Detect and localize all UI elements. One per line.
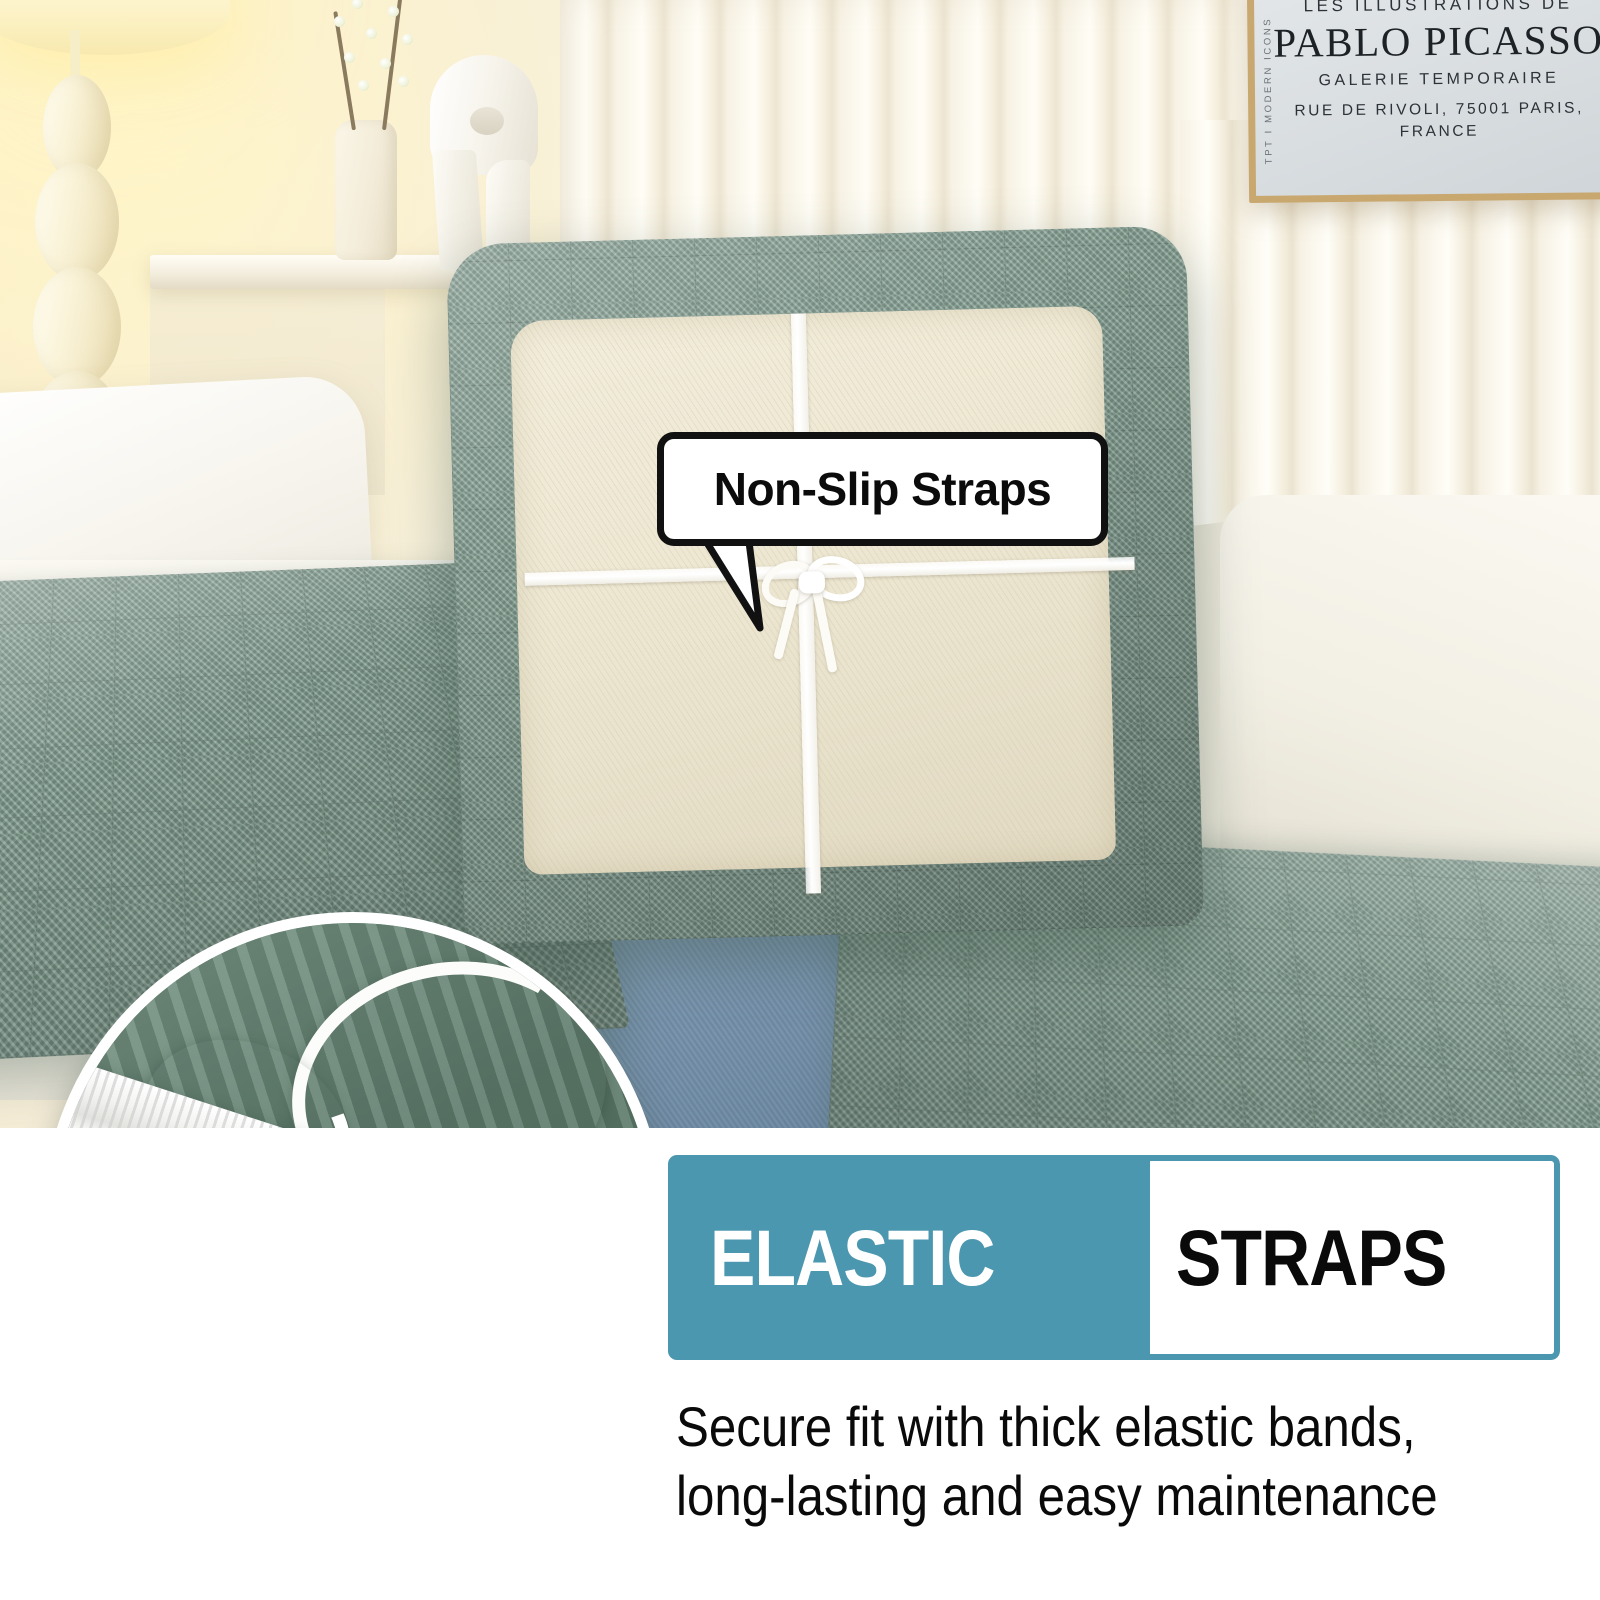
poster-address: RUE DE RIVOLI, 75001 PARIS, FRANCE <box>1255 97 1600 144</box>
headline-banner: ELASTIC STRAPS <box>668 1155 1560 1360</box>
headline-word-two-block: STRAPS <box>1150 1155 1560 1360</box>
non-slip-straps-callout: Non-Slip Straps <box>657 432 1108 546</box>
ceramic-vase <box>335 120 397 260</box>
callout-label: Non-Slip Straps <box>714 462 1052 516</box>
poster-title: PABLO PICASSO <box>1254 15 1600 67</box>
caption-line-two: long-lasting and easy maintenance <box>676 1461 1477 1530</box>
framed-poster: TPT I MODERN ICONS LES ILLUSTRATIONS DE … <box>1247 0 1600 203</box>
caption-text: Secure fit with thick elastic bands, lon… <box>676 1392 1477 1531</box>
lamp-base <box>22 75 132 405</box>
poster-eyebrow: LES ILLUSTRATIONS DE <box>1254 0 1600 17</box>
poster-gallery: GALERIE TEMPORAIRE <box>1255 69 1600 91</box>
lifestyle-photo: TPT I MODERN ICONS LES ILLUSTRATIONS DE … <box>0 0 1600 1128</box>
abstract-sculpture <box>420 55 545 265</box>
headline-word-one: ELASTIC <box>710 1212 995 1304</box>
headline-word-one-block: ELASTIC <box>668 1155 1150 1360</box>
elastic-strap-detail-inset <box>42 912 664 1128</box>
headline-word-two: STRAPS <box>1176 1212 1446 1304</box>
product-feature-image: TPT I MODERN ICONS LES ILLUSTRATIONS DE … <box>0 0 1600 1600</box>
caption-line-one: Secure fit with thick elastic bands, <box>676 1392 1477 1461</box>
